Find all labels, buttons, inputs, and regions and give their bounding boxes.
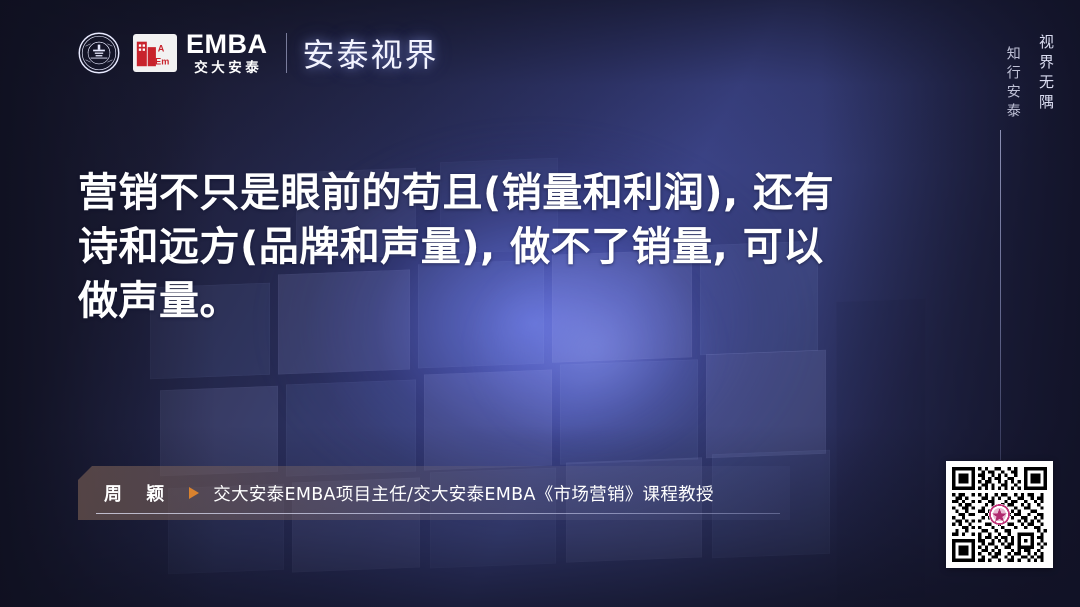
play-triangle-icon xyxy=(189,487,199,499)
quote-line-1: 营销不只是眼前的苟且(销量和利润), 还有 xyxy=(78,166,838,220)
program-name: 安泰视界 xyxy=(303,30,439,76)
speaker-bar: 周 颖 交大安泰EMBA项目主任/交大安泰EMBA《市场营销》课程教授 xyxy=(78,466,790,520)
emba-label: EMBA xyxy=(186,31,268,58)
svg-text:A: A xyxy=(158,43,165,53)
speaker-name: 周 颖 xyxy=(104,480,173,506)
svg-text:CEm: CEm xyxy=(149,56,170,66)
acem-building-icon: A CEm xyxy=(133,34,177,72)
speaker-underline xyxy=(96,513,780,514)
presentation-slide: A CEm EMBA 交大安泰 安泰视界 知行安泰 视界无隅 营销不只是眼前的苟… xyxy=(0,0,1080,607)
qr-code-icon[interactable] xyxy=(946,461,1053,568)
slogan-column-right: 视界无隅 xyxy=(1036,34,1056,122)
emba-cn-label: 交大安泰 xyxy=(191,62,262,76)
quote-text: 营销不只是眼前的苟且(销量和利润), 还有 诗和远方(品牌和声量), 做不了销量… xyxy=(78,166,838,328)
header-divider xyxy=(286,33,287,73)
sjtu-seal-icon xyxy=(78,32,120,74)
vertical-slogan: 知行安泰 视界无隅 xyxy=(1003,34,1056,122)
slogan-vertical-rule xyxy=(1000,130,1001,460)
quote-line-2: 诗和远方(品牌和声量), 做不了销量, 可以 xyxy=(78,220,838,274)
quote-line-3: 做声量。 xyxy=(78,274,838,328)
slogan-column-left: 知行安泰 xyxy=(1003,46,1022,122)
emba-lockup: EMBA 交大安泰 xyxy=(186,31,268,76)
brand-header: A CEm EMBA 交大安泰 安泰视界 xyxy=(78,30,439,76)
speaker-title: 交大安泰EMBA项目主任/交大安泰EMBA《市场营销》课程教授 xyxy=(213,481,713,506)
